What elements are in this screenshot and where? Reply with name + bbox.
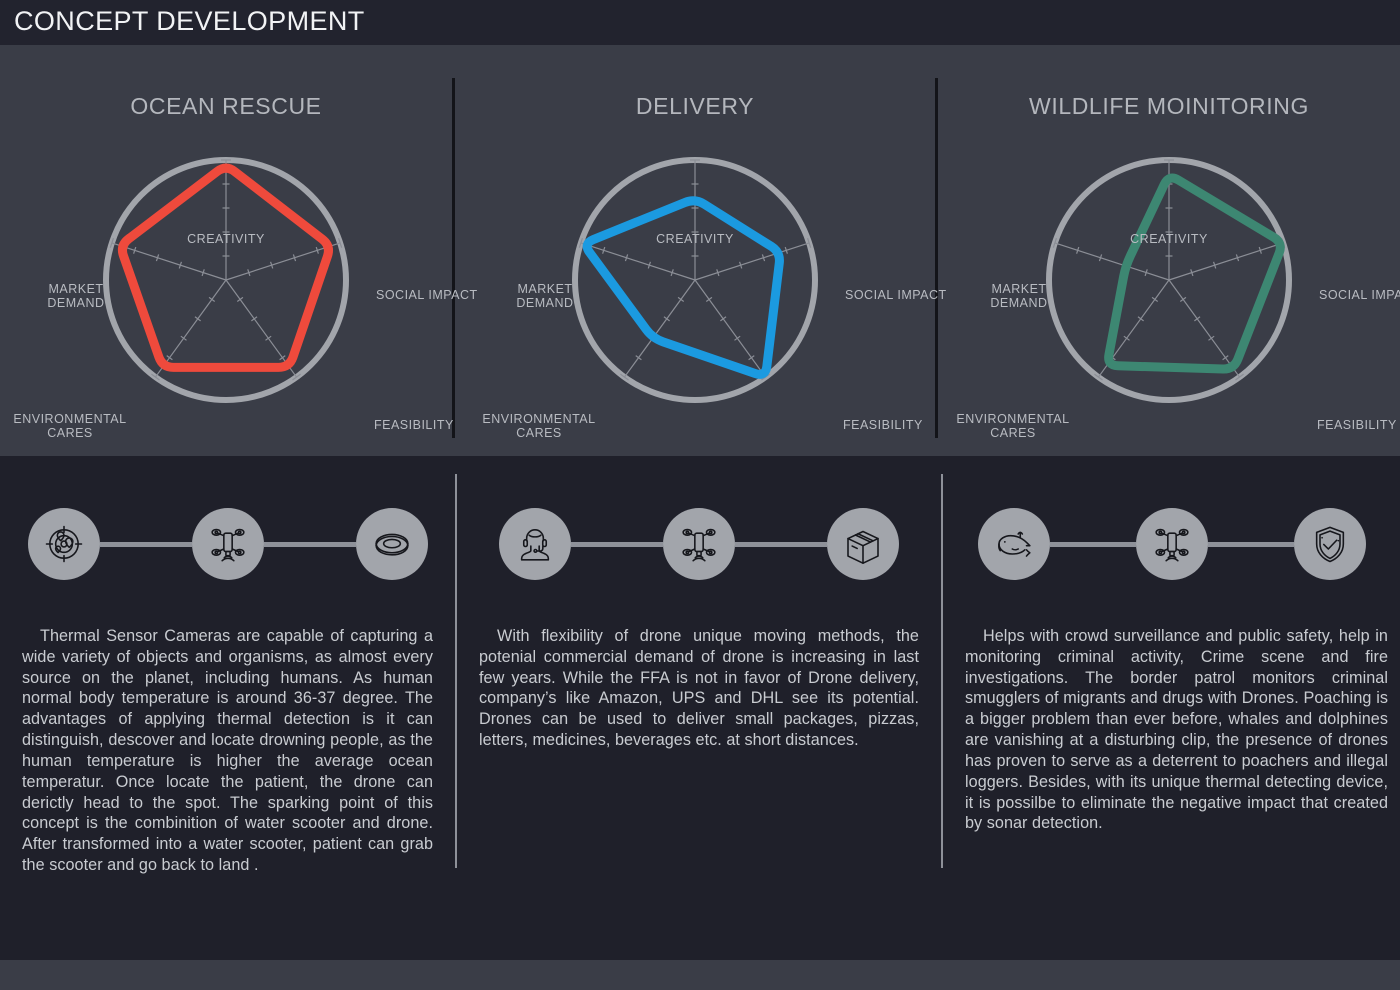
chart-title: OCEAN RESCUE bbox=[0, 93, 452, 120]
radar-axis-label: ENVIRONMENTAL CARES bbox=[3, 412, 138, 441]
description-text: Helps with crowd surveillance and public… bbox=[943, 626, 1400, 834]
radar-axis-tick bbox=[1152, 297, 1158, 301]
icon-badge-package-box bbox=[827, 508, 899, 580]
package-box-icon bbox=[843, 524, 883, 564]
radar-axis-tick bbox=[636, 356, 642, 360]
icon-connector-line bbox=[571, 542, 663, 547]
radar-axis-tick bbox=[1180, 297, 1186, 301]
radar-axis-label: CREATIVITY bbox=[625, 232, 765, 246]
whale-icon bbox=[994, 524, 1034, 564]
life-ring-icon bbox=[372, 524, 412, 564]
radar-svg bbox=[76, 130, 376, 430]
chart-column-ocean-rescue: OCEAN RESCUE CREATIVITYSOCIAL IMPACTFEAS… bbox=[0, 45, 452, 456]
icon-row bbox=[943, 508, 1400, 580]
icon-badge-drone bbox=[1136, 508, 1208, 580]
radar-axis-tick bbox=[678, 297, 684, 301]
radar-axis-tick bbox=[280, 356, 286, 360]
icon-badge-whale bbox=[978, 508, 1050, 580]
slide-root: CONCEPT DEVELOPMENT OCEAN RESCUE CREATIV… bbox=[0, 0, 1400, 990]
radar-axis-line bbox=[624, 280, 695, 377]
radar-svg bbox=[545, 130, 845, 430]
icon-connector-line bbox=[264, 542, 356, 547]
radar-axis-line bbox=[1169, 243, 1283, 280]
chart-title: DELIVERY bbox=[455, 93, 935, 120]
radar-axis-label: ENVIRONMENTAL CARES bbox=[472, 412, 607, 441]
radar-series-path bbox=[587, 201, 779, 375]
icon-badge-support-agent bbox=[499, 508, 571, 580]
radar-axis-tick bbox=[251, 317, 257, 321]
chart-title: WILDLIFE MOINITORING bbox=[938, 93, 1400, 120]
radar-series-path bbox=[1109, 178, 1281, 369]
header-bar: CONCEPT DEVELOPMENT bbox=[0, 0, 1400, 45]
radar-axis-tick bbox=[720, 317, 726, 321]
radar-axis-tick bbox=[1223, 356, 1229, 360]
support-agent-icon bbox=[515, 524, 555, 564]
radar-axis-tick bbox=[265, 336, 271, 340]
icon-connector-line bbox=[735, 542, 827, 547]
icon-row bbox=[0, 508, 455, 580]
icon-connector-line bbox=[100, 542, 192, 547]
radar-axis-tick bbox=[664, 317, 670, 321]
chart-column-wildlife-monitoring: WILDLIFE MOINITORING CREATIVITYSOCIAL IM… bbox=[938, 45, 1400, 456]
radar-axis-label: MARKET DEMAND bbox=[969, 282, 1069, 311]
radar-axis-tick bbox=[734, 336, 740, 340]
icon-row bbox=[457, 508, 941, 580]
radar-axis-tick bbox=[209, 297, 215, 301]
radar-axis-tick bbox=[1138, 317, 1144, 321]
radar-axis-label: FEASIBILITY bbox=[1317, 418, 1400, 432]
radar-axis-tick bbox=[1194, 317, 1200, 321]
description-text: Thermal Sensor Cameras are capable of ca… bbox=[0, 626, 455, 876]
description-text: With flexibility of drone unique moving … bbox=[457, 626, 941, 751]
radar-axis-tick bbox=[1124, 336, 1130, 340]
footer-strip bbox=[0, 960, 1400, 990]
radar-axis-label: CREATIVITY bbox=[156, 232, 296, 246]
radar-target-icon bbox=[44, 524, 84, 564]
chart-column-delivery: DELIVERY CREATIVITYSOCIAL IMPACTFEASIBIL… bbox=[455, 45, 935, 456]
radar-axis-label: ENVIRONMENTAL CARES bbox=[946, 412, 1081, 441]
radar-axis-label: MARKET DEMAND bbox=[26, 282, 126, 311]
radar-axis-tick bbox=[749, 356, 755, 360]
radar-axis-tick bbox=[706, 297, 712, 301]
radar-axis-label: SOCIAL IMPACT bbox=[1319, 288, 1400, 302]
radar-axis-tick bbox=[237, 297, 243, 301]
icon-badge-drone bbox=[663, 508, 735, 580]
radar-axis-label: MARKET DEMAND bbox=[495, 282, 595, 311]
drone-icon bbox=[208, 524, 248, 564]
icon-connector-line bbox=[1050, 542, 1136, 547]
icon-badge-radar-target bbox=[28, 508, 100, 580]
radar-axis-tick bbox=[1208, 336, 1214, 340]
shield-check-icon bbox=[1310, 524, 1350, 564]
radar-axis-line bbox=[695, 243, 809, 280]
drone-icon bbox=[679, 524, 719, 564]
icon-badge-drone bbox=[192, 508, 264, 580]
icon-connector-line bbox=[1208, 542, 1294, 547]
radar-axis-line bbox=[1169, 280, 1240, 377]
radar-axis-tick bbox=[167, 356, 173, 360]
radar-axis-label: CREATIVITY bbox=[1099, 232, 1239, 246]
icon-badge-life-ring bbox=[356, 508, 428, 580]
radar-axis-tick bbox=[181, 336, 187, 340]
radar-axis-line bbox=[1055, 243, 1169, 280]
radar-svg bbox=[1019, 130, 1319, 430]
icon-badge-shield-check bbox=[1294, 508, 1366, 580]
page-title: CONCEPT DEVELOPMENT bbox=[14, 6, 365, 37]
drone-icon bbox=[1152, 524, 1192, 564]
radar-axis-tick bbox=[195, 317, 201, 321]
